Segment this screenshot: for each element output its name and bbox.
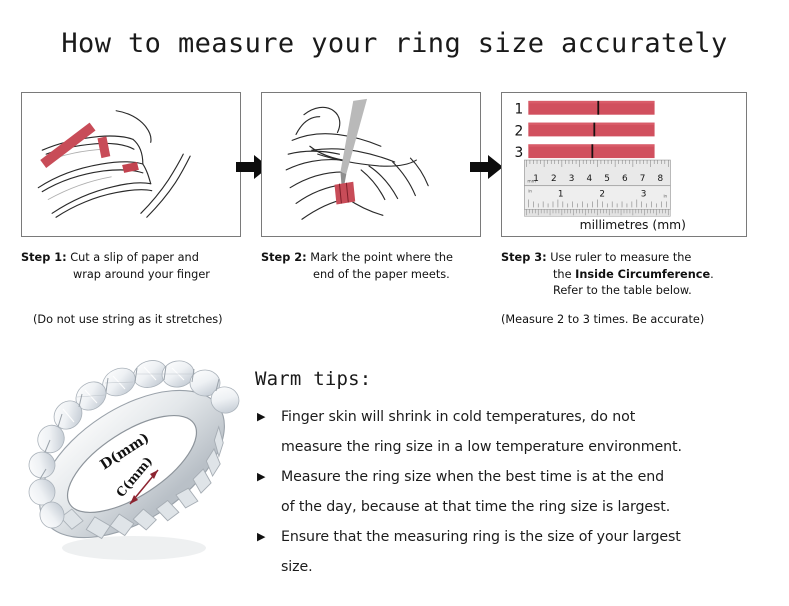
warm-tips-list: ▶ Finger skin will shrink in cold temper… (255, 402, 765, 582)
svg-text:in: in (663, 194, 667, 199)
step-1-caption: Step 1: Cut a slip of paper and wrap aro… (21, 250, 253, 283)
svg-text:1: 1 (558, 190, 564, 200)
tip-item-1-cont: measure the ring size in a low temperatu… (255, 432, 765, 462)
step-3-line3: Refer to the table below. (501, 283, 751, 300)
tip-item-3-cont: size. (255, 552, 765, 582)
step-3-line2-prefix: the (553, 268, 575, 281)
step-3-line1: Use ruler to measure the (550, 251, 691, 264)
strip-number-3: 3 (515, 145, 524, 161)
step-1-line2: wrap around your finger (21, 267, 253, 284)
step-2-illustration-panel (261, 92, 481, 237)
tip-2-line2: of the day, because at that time the rin… (281, 499, 670, 515)
measured-paper-strips (528, 101, 654, 158)
bullet-triangle-icon: ▶ (257, 462, 265, 492)
ruler-with-red-strips-icon: 1 2 3 (502, 93, 746, 236)
hand-marking-strip-with-pen-icon (262, 93, 480, 236)
strip-number-1: 1 (515, 102, 524, 118)
tip-1-line2: measure the ring size in a low temperatu… (281, 439, 682, 455)
svg-text:3: 3 (569, 174, 575, 184)
step-1-line1: Cut a slip of paper and (70, 251, 199, 264)
ring-size-guide-page: How to measure your ring size accurately (0, 0, 789, 606)
ruler-inch-scale: 123 in in (524, 186, 670, 217)
tip-2-line1: Measure the ring size when the best time… (281, 469, 664, 485)
step-3-caption: Step 3: Use ruler to measure the the Ins… (501, 250, 751, 300)
page-title: How to measure your ring size accurately (0, 28, 789, 59)
svg-text:2: 2 (599, 190, 605, 200)
svg-text:5: 5 (604, 174, 610, 184)
step-3-line2: the Inside Circumference. (501, 267, 751, 284)
svg-text:6: 6 (622, 174, 628, 184)
svg-text:in: in (528, 189, 532, 194)
warm-tips-heading: Warm tips: (255, 368, 371, 390)
pen-shape (340, 99, 367, 190)
bullet-triangle-icon: ▶ (257, 402, 265, 432)
step-3-inside-circumference-emphasis: Inside Circumference (575, 268, 710, 281)
step-2-line1: Mark the point where the (310, 251, 453, 264)
svg-text:1: 1 (533, 174, 539, 184)
step-2-to-3-arrow-icon (470, 153, 504, 181)
step-3-note: (Measure 2 to 3 times. Be accurate) (501, 313, 704, 326)
svg-text:3: 3 (641, 190, 647, 200)
tip-item-2-cont: of the day, because at that time the rin… (255, 492, 765, 522)
step-1-label: Step 1: (21, 251, 67, 264)
ruler-metric-scale: mm 123 456 78 (524, 160, 670, 186)
tip-item-2: ▶ Measure the ring size when the best ti… (255, 462, 765, 492)
paper-strip-shape (335, 182, 356, 205)
strip-number-2: 2 (515, 123, 524, 139)
bullet-triangle-icon: ▶ (257, 522, 265, 552)
step-3-label: Step 3: (501, 251, 547, 264)
svg-text:8: 8 (658, 174, 664, 184)
paper-strip-shape (40, 123, 139, 173)
svg-text:2: 2 (551, 174, 557, 184)
step-3-line2-suffix: . (710, 268, 714, 281)
hand-with-paper-strip-icon (22, 93, 240, 236)
step-2-line2: end of the paper meets. (261, 267, 493, 284)
step-2-label: Step 2: (261, 251, 307, 264)
tip-3-line2: size. (281, 559, 313, 575)
svg-text:7: 7 (640, 174, 646, 184)
step-3-illustration-panel: 1 2 3 (501, 92, 747, 237)
step-2-caption: Step 2: Mark the point where the end of … (261, 250, 493, 283)
ring-diagram: D(mm) C(mm) (18, 352, 246, 577)
eternity-ring-icon: D(mm) C(mm) (18, 352, 246, 577)
tip-1-line1: Finger skin will shrink in cold temperat… (281, 409, 635, 425)
tip-3-line1: Ensure that the measuring ring is the si… (281, 529, 681, 545)
tip-item-3: ▶ Ensure that the measuring ring is the … (255, 522, 765, 552)
tip-item-1: ▶ Finger skin will shrink in cold temper… (255, 402, 765, 432)
ruler-unit-caption: millimetres (mm) (580, 218, 686, 232)
step-1-note: (Do not use string as it stretches) (33, 313, 223, 326)
step-1-illustration-panel (21, 92, 241, 237)
svg-text:4: 4 (587, 174, 593, 184)
